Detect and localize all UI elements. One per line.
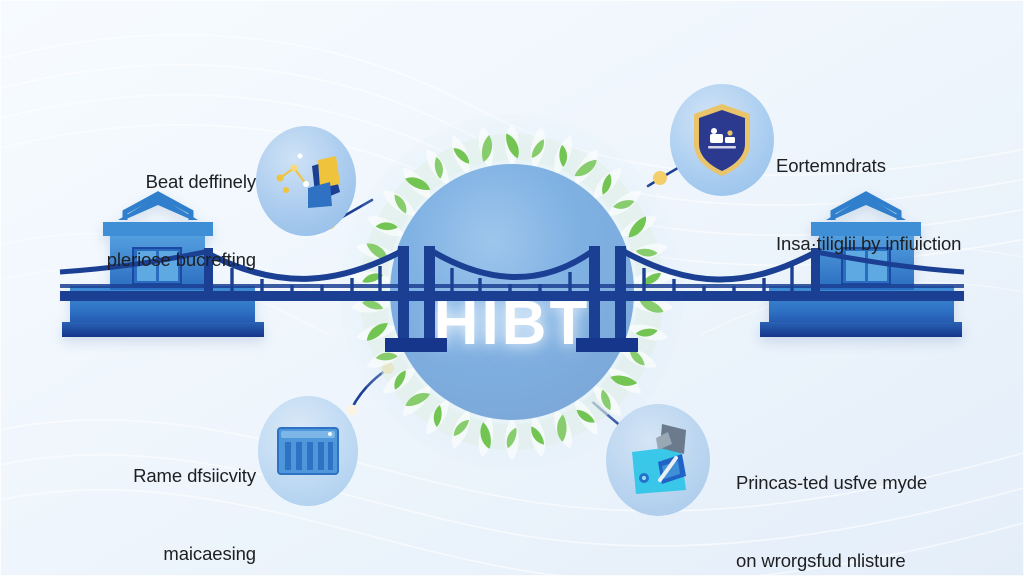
device-document-icon[interactable]: [606, 404, 710, 516]
callout-bottom-left-line-1: Rame dfsiicvity: [12, 463, 256, 489]
callout-top-left-line-1: Beat deffinely: [10, 169, 256, 195]
device-document-glyph: [606, 404, 710, 516]
server-rack-glyph: [258, 396, 358, 506]
server-rack-icon[interactable]: [258, 396, 358, 506]
growth-chart-glyph: [256, 126, 356, 236]
callout-bottom-right-line-2: on wrorgsfud nlisture: [736, 548, 1016, 574]
callout-top-right-line-2: Insa·tiliglii by infiuiction: [776, 231, 1024, 257]
callout-top-left-line-2: pleriose bucrefting: [10, 247, 256, 273]
security-shield-icon[interactable]: [670, 84, 774, 196]
callout-top-left: Beat deffinely pleriose bucrefting: [10, 116, 256, 326]
callout-bottom-right: Princas-ted usfve myde on wrorgsfud nlis…: [736, 417, 1016, 576]
callout-bottom-left-line-2: maicaesing: [12, 541, 256, 567]
callout-top-right-line-1: Eortemndrats: [776, 153, 1024, 179]
callout-top-right: Eortemndrats Insa·tiliglii by infiuictio…: [776, 100, 1024, 310]
growth-chart-icon[interactable]: [256, 126, 356, 236]
infographic-canvas: HIBT: [0, 0, 1024, 576]
callout-bottom-right-line-1: Princas-ted usfve myde: [736, 470, 1016, 496]
callout-bottom-left: Rame dfsiicvity maicaesing and insucipti…: [12, 410, 256, 576]
shield-glyph: [670, 84, 774, 196]
